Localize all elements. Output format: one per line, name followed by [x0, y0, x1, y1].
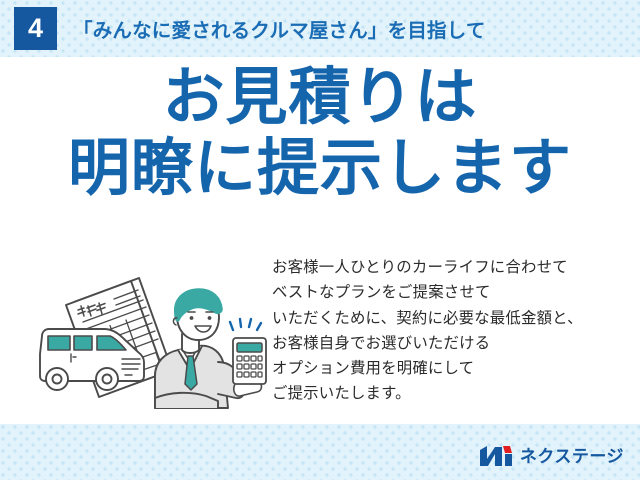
- body-copy-line: ご提示いたします。: [272, 381, 632, 406]
- headline: お見積りは 明瞭に提示します: [0, 66, 640, 200]
- body-copy-line: ベストなプランをご提案させて: [272, 280, 632, 305]
- nextage-brand-text: ネクステージ: [520, 448, 624, 465]
- sparkle-icon: [230, 319, 261, 330]
- header: 4 「みんなに愛されるクルマ屋さん」を目指して: [0, 0, 640, 57]
- promo-banner: 4 「みんなに愛されるクルマ屋さん」を目指して お見積りは 明瞭に提示します お…: [0, 0, 640, 480]
- body-copy-line: お客様一人ひとりのカーライフに合わせて: [272, 255, 632, 280]
- body-copy-line: いただくために、契約に必要な最低金額と、: [272, 306, 632, 331]
- sales-staff-illustration: [22, 258, 272, 426]
- headline-line-1: お見積りは: [0, 66, 640, 129]
- step-number-badge: 4: [14, 7, 57, 50]
- nextage-logo: ネクステージ: [479, 445, 624, 467]
- calculator-icon: [233, 338, 266, 384]
- body-copy-line: お客様自身でお選びいただける: [272, 331, 632, 356]
- body-copy-line: オプション費用を明確にして: [272, 356, 632, 381]
- headline-line-2: 明瞭に提示します: [0, 137, 640, 200]
- body-copy: お客様一人ひとりのカーライフに合わせて ベストなプランをご提案させて いただくた…: [272, 255, 632, 407]
- nextage-mark-icon: [479, 445, 513, 467]
- header-title: 「みんなに愛されるクルマ屋さん」を目指して: [73, 14, 486, 43]
- illustration-svg: [22, 258, 272, 426]
